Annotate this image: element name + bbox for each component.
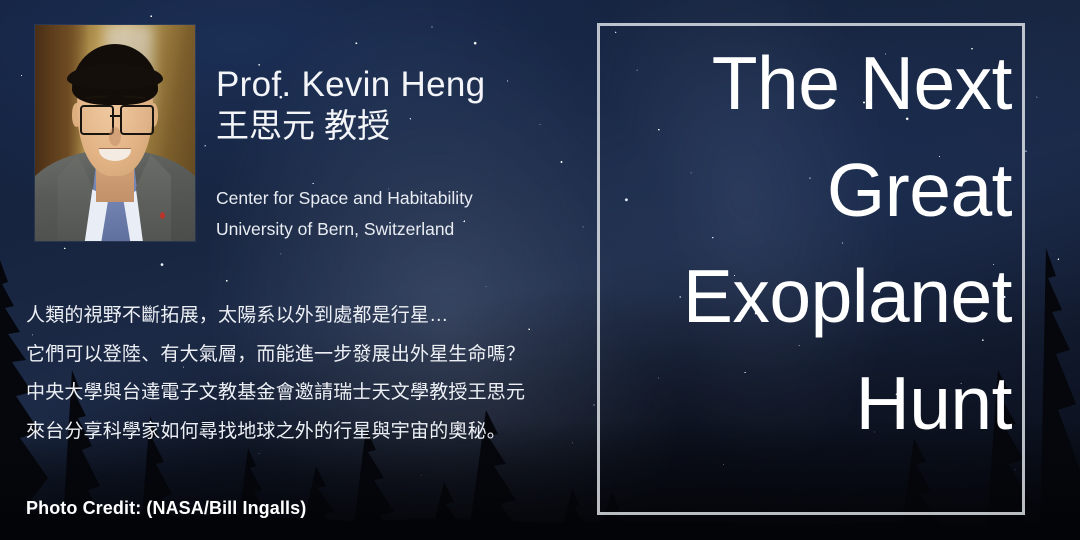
speaker-name-english: Prof. Kevin Heng: [216, 66, 485, 104]
title-line-3: Exoplanet: [612, 243, 1012, 350]
speaker-photo: [35, 25, 195, 241]
event-poster: Prof. Kevin Heng 王思元 教授 Center for Space…: [0, 0, 1080, 540]
speaker-affiliation: Center for Space and Habitability Univer…: [216, 183, 473, 245]
affiliation-line-2: University of Bern, Switzerland: [216, 214, 473, 245]
title-line-2: Great: [612, 137, 1012, 244]
title-line-1: The Next: [612, 30, 1012, 137]
photo-credit: Photo Credit: (NASA/Bill Ingalls): [26, 498, 306, 519]
speaker-name-block: Prof. Kevin Heng 王思元 教授: [216, 66, 485, 145]
description-line-4: 來台分享科學家如何尋找地球之外的行星與宇宙的奧秘。: [26, 413, 525, 452]
photo-eyeglass-bridge: [110, 115, 120, 117]
poster-title: The Next Great Exoplanet Hunt: [612, 30, 1012, 456]
description-line-1: 人類的視野不斷拓展，太陽系以外到處都是行星…: [26, 297, 525, 336]
title-line-4: Hunt: [612, 350, 1012, 457]
affiliation-line-1: Center for Space and Habitability: [216, 183, 473, 214]
speaker-name-chinese: 王思元 教授: [216, 106, 485, 146]
description-line-3: 中央大學與台達電子文教基金會邀請瑞士天文學教授王思元: [26, 374, 525, 413]
description-line-2: 它們可以登陸、有大氣層，而能進一步發展出外星生命嗎？: [26, 336, 525, 375]
description-chinese: 人類的視野不斷拓展，太陽系以外到處都是行星… 它們可以登陸、有大氣層，而能進一步…: [26, 297, 525, 451]
photo-eyeglass-right: [120, 105, 154, 135]
